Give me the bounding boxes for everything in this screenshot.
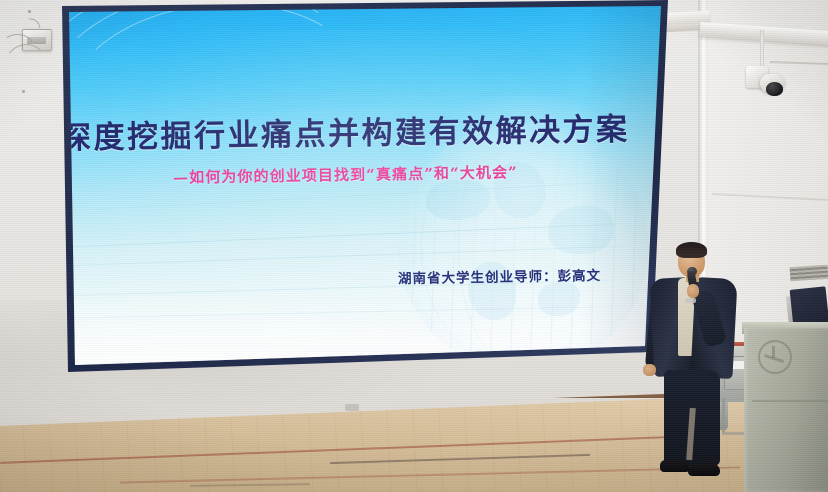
presenter (638, 238, 748, 488)
wall-mark (22, 90, 25, 93)
presenter-hand-left (643, 364, 656, 376)
wall-mark (28, 10, 31, 13)
podium-emblem-icon (758, 340, 792, 374)
presenter-shoe-right (688, 464, 720, 476)
security-camera-icon (744, 64, 790, 108)
camera-mount-stalk (760, 30, 764, 68)
presenter-watch (685, 298, 696, 303)
wall-vent (790, 265, 828, 282)
presenter-glasses (679, 256, 704, 262)
slide-subtitle: —如何为你的创业项目找到“真痛点”和“大机会” (55, 160, 635, 190)
slide-title: 深度挖掘行业痛点并构建有效解决方案 (54, 104, 635, 158)
wall-mark (345, 404, 359, 411)
presenter-shoe-left (660, 460, 690, 472)
presenter-hand-holding-mic (687, 284, 699, 298)
slide-credit: 湖南省大学生创业导师：彭高文 (181, 264, 601, 291)
lecture-hall-photo: 深度挖掘行业痛点并构建有效解决方案 —如何为你的创业项目找到“真痛点”和“大机会… (0, 0, 828, 492)
camera-lens (766, 82, 783, 96)
podium-seam (752, 400, 828, 402)
